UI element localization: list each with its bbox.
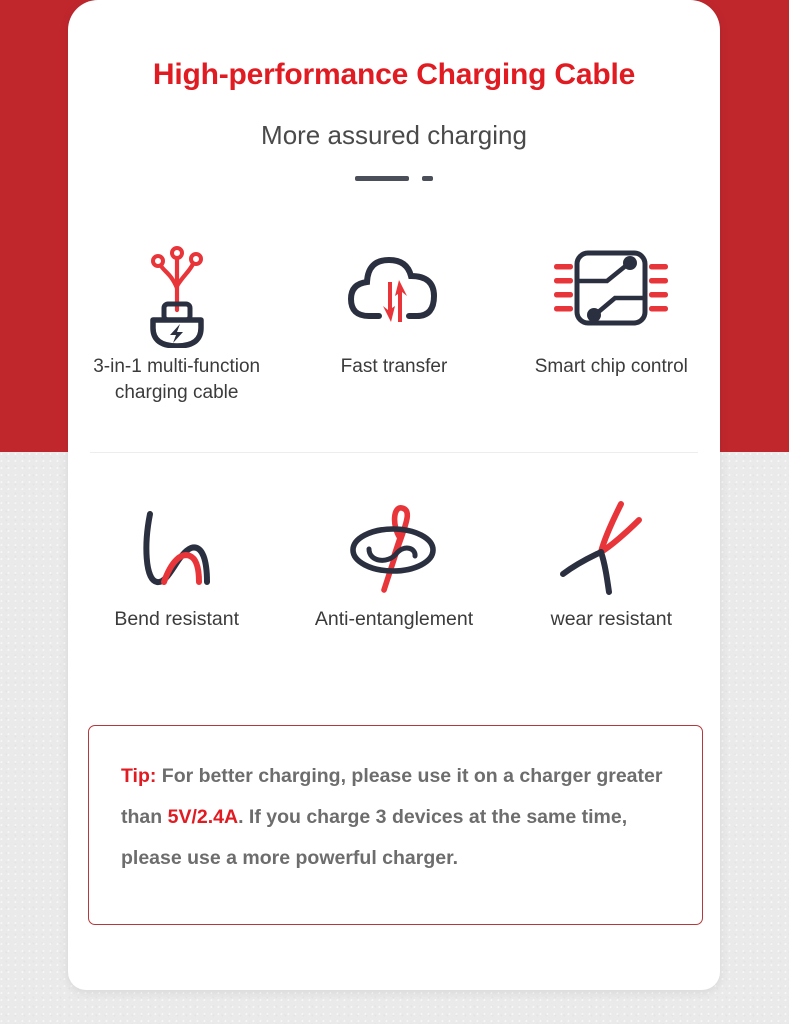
feature-bend-resistant: Bend resistant	[68, 492, 285, 632]
feature-label: wear resistant	[551, 606, 672, 632]
cloud-transfer-arrows-icon	[339, 228, 449, 348]
feature-label: 3-in-1 multi-function charging cable	[72, 354, 282, 406]
tip-prefix: Tip:	[121, 765, 156, 787]
feature-label: Smart chip control	[535, 354, 688, 380]
feature-anti-entanglement: Anti-entanglement	[285, 492, 502, 632]
tip-highlight-current: 5V/2.4A	[168, 806, 238, 828]
crossed-cables-icon	[551, 492, 671, 600]
feature-row-one: 3-in-1 multi-function charging cable Fas…	[68, 228, 720, 406]
tip-callout-box: Tip: For better charging, please use it …	[88, 725, 703, 925]
feature-3in1-cable: 3-in-1 multi-function charging cable	[68, 228, 285, 406]
bent-cable-icon	[117, 492, 237, 600]
usb-plug-lightning-icon	[123, 228, 231, 348]
feature-wear-resistant: wear resistant	[503, 492, 720, 632]
tip-text: Tip: For better charging, please use it …	[121, 756, 670, 879]
product-feature-page: High-performance Charging Cable More ass…	[0, 0, 789, 1024]
content-card: High-performance Charging Cable More ass…	[68, 0, 720, 990]
smart-chip-icon	[546, 228, 676, 348]
page-title: High-performance Charging Cable	[68, 58, 720, 92]
divider-short-dash	[422, 176, 433, 181]
divider-long-dash	[355, 176, 409, 181]
feature-label: Fast transfer	[341, 354, 448, 380]
feature-label: Anti-entanglement	[315, 606, 473, 632]
feature-label: Bend resistant	[114, 606, 239, 632]
page-subtitle: More assured charging	[68, 120, 720, 151]
cable-loop-icon	[330, 492, 458, 600]
feature-smart-chip: Smart chip control	[503, 228, 720, 406]
feature-row-two: Bend resistant Anti-entanglement	[68, 492, 720, 632]
feature-fast-transfer: Fast transfer	[285, 228, 502, 406]
heading-divider	[68, 176, 720, 181]
section-separator	[90, 452, 698, 453]
